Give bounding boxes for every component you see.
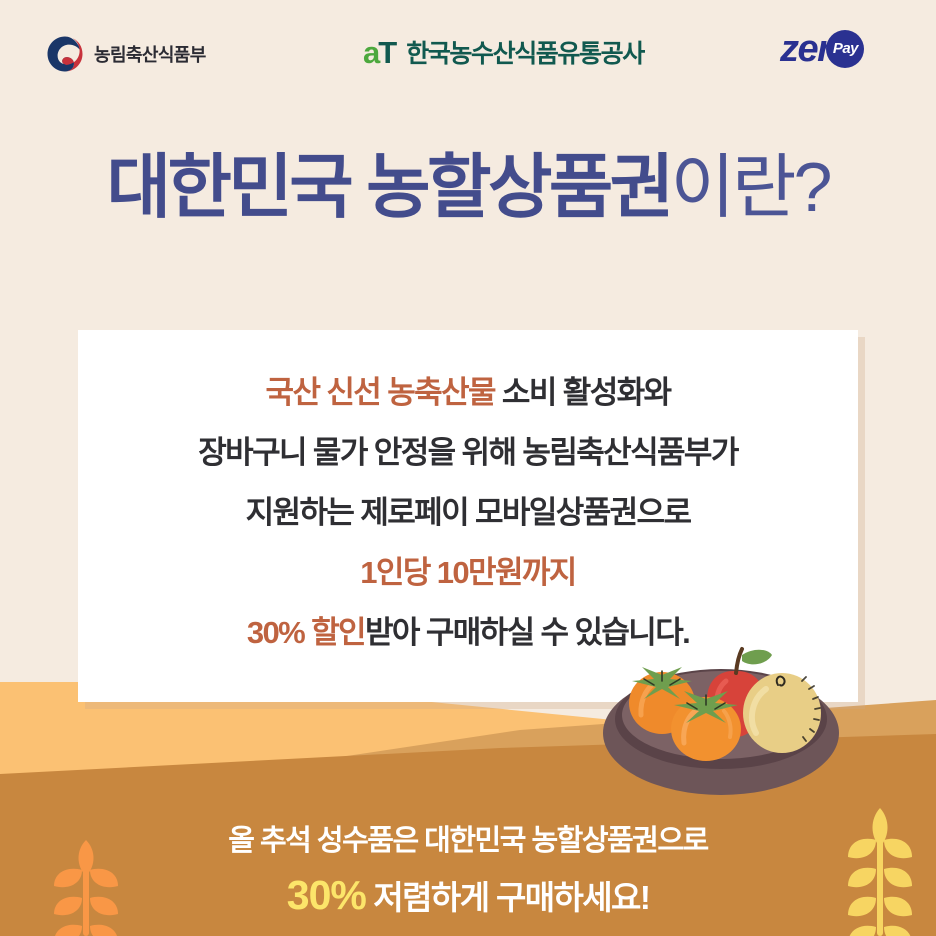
zeropay-pay-label: Pay xyxy=(833,40,858,57)
logo-zeropay: zer Pay xyxy=(780,30,864,68)
description-line-text: 지원하는 제로페이 모바일상품권으로 xyxy=(246,495,691,530)
korea-government-taegeuk-icon xyxy=(45,34,85,74)
description-line: 1인당 10만원까지 xyxy=(78,557,858,588)
description-line-accent: 국산 신선 농축산물 xyxy=(266,375,495,410)
page-title-light: 이란? xyxy=(671,148,830,226)
bottom-banner: 올 추석 성수품은 대한민국 농할상품권으로 30% 저렴하게 구매하세요! xyxy=(0,827,936,916)
banner-line-1: 올 추석 성수품은 대한민국 농할상품권으로 xyxy=(0,827,936,856)
page-title: 대한민국 농할상품권이란? xyxy=(0,152,936,222)
page-title-strong: 대한민국 농할상품권 xyxy=(107,148,671,226)
description-line-accent: 30% 할인 xyxy=(247,615,365,650)
banner-line-2: 30% 저렴하게 구매하세요! xyxy=(0,875,936,916)
banner-discount-highlight: 30% xyxy=(287,872,366,918)
poster-root: 농림축산식품부 aT 한국농수산식품유통공사 zer Pay 대한민국 농할상품… xyxy=(0,0,936,936)
banner-line-2-text: 저렴하게 구매하세요! xyxy=(366,879,649,916)
description-line-text: 장바구니 물가 안정을 위해 농림축산식품부가 xyxy=(198,435,738,470)
zeropay-o-badge-icon: Pay xyxy=(826,30,864,68)
description-line-text: 소비 활성화와 xyxy=(495,375,671,410)
zeropay-wordmark: zer Pay xyxy=(780,30,864,68)
description-line: 장바구니 물가 안정을 위해 농림축산식품부가 xyxy=(78,437,858,468)
at-mark-letter-a: a xyxy=(363,35,378,70)
logo-at-corporation: aT 한국농수산식품유통공사 xyxy=(363,34,644,70)
description-line-accent: 1인당 10만원까지 xyxy=(360,555,575,590)
logo-bar: 농림축산식품부 aT 한국농수산식품유통공사 zer Pay xyxy=(0,0,936,108)
logo-at-label: 한국농수산식품유통공사 xyxy=(406,34,644,70)
at-mark-letter-t: T xyxy=(378,35,395,70)
logo-ministry-of-agriculture: 농림축산식품부 xyxy=(45,34,206,74)
description-line: 국산 신선 농축산물 소비 활성화와 xyxy=(78,377,858,408)
logo-ministry-label: 농림축산식품부 xyxy=(94,41,206,67)
zeropay-text: zer xyxy=(780,30,830,68)
at-mark-icon: aT xyxy=(363,37,395,68)
description-card-body: 국산 신선 농축산물 소비 활성화와 장바구니 물가 안정을 위해 농림축산식품… xyxy=(78,377,858,677)
description-line: 지원하는 제로페이 모바일상품권으로 xyxy=(78,497,858,528)
asian-pear-icon xyxy=(743,673,821,753)
fruit-bowl-illustration xyxy=(596,641,846,813)
